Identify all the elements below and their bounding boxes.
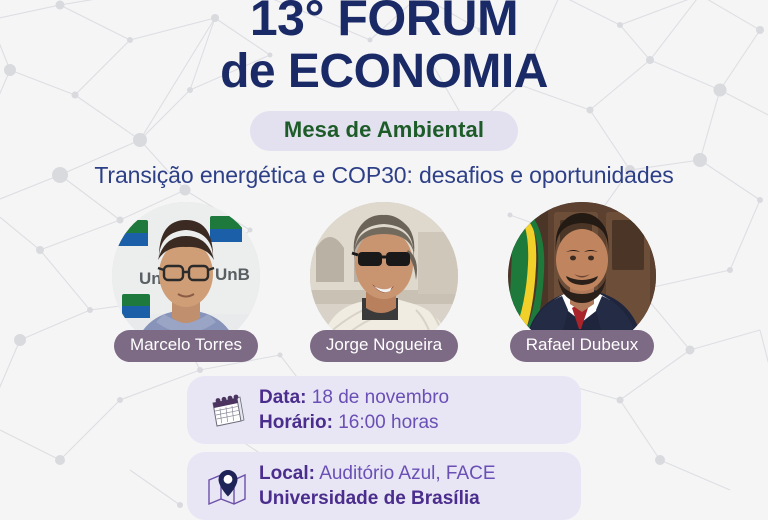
date-time-card: Data: 18 de novembro Horário: 16:00 hora… <box>187 376 581 444</box>
date-label: Data: <box>259 387 307 408</box>
event-title-line-1: 13° FÓRUM <box>0 0 768 45</box>
institution-row: Universidade de Brasília <box>259 486 496 511</box>
speaker-name-pill: Marcelo Torres <box>114 330 258 362</box>
panel-badge-wrap: Mesa de Ambiental <box>250 111 518 151</box>
place-row: Local: Auditório Azul, FACE <box>259 461 496 486</box>
time-row: Horário: 16:00 horas <box>259 410 449 435</box>
place-label: Local: <box>259 463 315 484</box>
poster-content: 13° FÓRUM de ECONOMIA Mesa de Ambiental … <box>0 0 768 512</box>
date-value: 18 de novembro <box>312 387 449 408</box>
date-time-text: Data: 18 de novembro Horário: 16:00 hora… <box>253 385 449 435</box>
speaker-name-pill: Jorge Nogueira <box>310 330 458 362</box>
time-value: 16:00 horas <box>338 412 438 433</box>
event-title-line-2: de ECONOMIA <box>0 47 768 98</box>
event-title: 13° FÓRUM de ECONOMIA <box>0 0 768 98</box>
map-pin-icon <box>201 466 253 506</box>
svg-text:UnB: UnB <box>215 265 250 284</box>
speaker-name-pill: Rafael Dubeux <box>510 330 654 362</box>
panel-badge: Mesa de Ambiental <box>250 111 518 151</box>
event-subtitle: Transição energética e COP30: desafios e… <box>64 161 704 190</box>
speaker-photo-rafael-dubeux <box>508 202 656 350</box>
speaker-photo-marcelo-torres: UnB UnB <box>112 202 260 350</box>
location-text: Local: Auditório Azul, FACE Universidade… <box>253 461 496 511</box>
info-cards: Data: 18 de novembro Horário: 16:00 hora… <box>0 376 768 520</box>
time-label: Horário: <box>259 412 333 433</box>
calendar-icon <box>201 390 253 430</box>
location-card: Local: Auditório Azul, FACE Universidade… <box>187 452 581 520</box>
place-value: Auditório Azul, FACE <box>319 463 495 484</box>
speaker-card: UnB UnB Marcelo T <box>107 202 265 362</box>
speakers-list: UnB UnB Marcelo T <box>0 202 768 362</box>
date-row: Data: 18 de novembro <box>259 385 449 410</box>
speaker-card: Jorge Nogueira <box>305 202 463 362</box>
speaker-card: Rafael Dubeux <box>503 202 661 362</box>
speaker-photo-jorge-nogueira <box>310 202 458 350</box>
